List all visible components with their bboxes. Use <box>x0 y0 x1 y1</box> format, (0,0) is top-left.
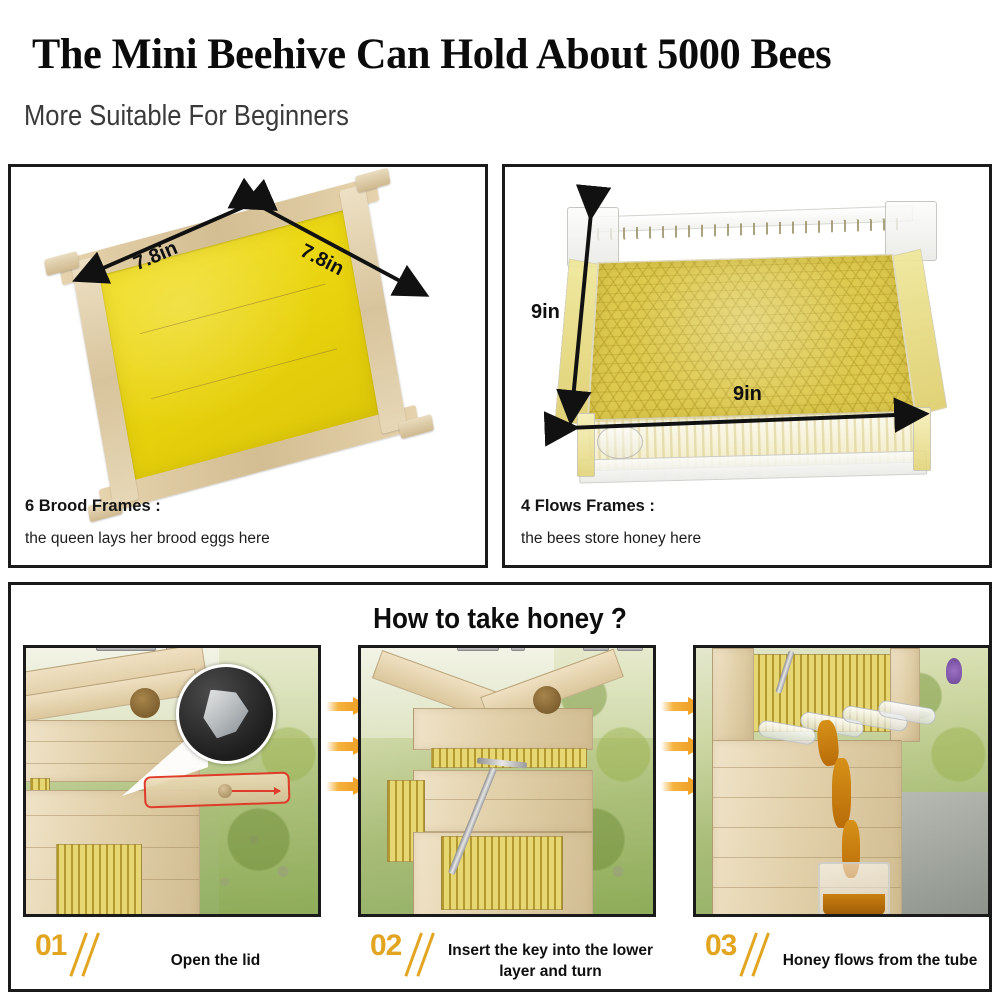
lid-hinge <box>617 645 643 651</box>
step-2-photo <box>358 645 656 917</box>
page-title: The Mini Beehive Can Hold About 5000 Bee… <box>32 30 966 79</box>
step-1-photo <box>23 645 321 917</box>
purple-flower <box>946 658 962 684</box>
hive-entrance-hole <box>533 686 561 714</box>
jar-honey-fill <box>823 894 885 915</box>
honey-jar <box>818 862 890 917</box>
flow-frame-illustration: 9in 9in <box>505 167 989 497</box>
flow-frame-panel: 9in 9in 4 Flows Frames : the bees store … <box>502 164 992 568</box>
hive-side-wall <box>712 648 754 742</box>
step-1-text: Open the lid <box>113 951 318 972</box>
lid-hinge <box>457 645 499 651</box>
brood-caption-subtitle: the queen lays her brood eggs here <box>25 530 270 548</box>
how-to-take-honey-panel: How to take honey ? <box>8 582 992 992</box>
flow-frame-end-bar <box>577 413 595 477</box>
lid-hinge <box>511 645 525 651</box>
flow-frame-observation-window <box>597 425 643 459</box>
step-3-photo <box>693 645 991 917</box>
step-3-text: Honey flows from the tube <box>771 951 989 972</box>
lid-hinge <box>583 645 609 651</box>
beehive <box>369 652 627 917</box>
step-2-caption: 02 Insert the key into the lower layer a… <box>358 927 656 995</box>
honey-stream <box>832 758 851 828</box>
frame-wire <box>151 349 337 400</box>
hive-entrance-hole <box>130 688 160 718</box>
hive-gable <box>413 708 593 750</box>
wooden-brood-frame <box>73 185 406 506</box>
step-1-caption: 01 Open the lid <box>23 927 321 995</box>
hive-plank <box>713 857 901 858</box>
flow-frame-comb-window <box>56 844 142 916</box>
hive-plank <box>713 767 901 768</box>
dimension-label-height: 9in <box>531 301 560 324</box>
infographic-page: The Mini Beehive Can Hold About 5000 Bee… <box>0 0 1000 1000</box>
plastic-key-icon <box>203 690 248 739</box>
flow-frame-end-cap <box>567 207 619 267</box>
flow-caption-title: 4 Flows Frames : <box>521 497 655 516</box>
flow-frame-end-bar <box>913 407 931 471</box>
brood-frame-panel: 7.8in 7.8in 6 Brood Frames : the queen l… <box>8 164 488 568</box>
key-closeup-callout <box>176 664 276 764</box>
step-3-caption: 03 Honey flows from the tube <box>693 927 991 995</box>
brood-caption-title: 6 Brood Frames : <box>25 497 161 516</box>
howto-title: How to take honey ? <box>60 603 940 636</box>
step-2-text: Insert the key into the lower layer and … <box>448 941 653 983</box>
step-2-number: 02 <box>370 929 401 963</box>
step-1-number: 01 <box>35 929 66 963</box>
flow-caption-subtitle: the bees store honey here <box>521 530 701 548</box>
page-subtitle: More Suitable For Beginners <box>24 100 349 133</box>
frame-wire <box>140 283 326 334</box>
slider-knob <box>218 784 232 798</box>
hive-plank <box>23 741 199 742</box>
hive-plank <box>23 815 199 816</box>
dimension-label-width: 9in <box>733 383 762 406</box>
step-3-number: 03 <box>705 929 736 963</box>
hive-plank <box>713 827 901 828</box>
hive-plank <box>414 799 592 800</box>
hive-plank <box>713 797 901 798</box>
slide-direction-arrow <box>232 790 280 792</box>
brood-frame-illustration: 7.8in 7.8in <box>11 167 485 487</box>
hive-upper-box <box>413 770 593 832</box>
lid-hinge <box>96 645 156 651</box>
